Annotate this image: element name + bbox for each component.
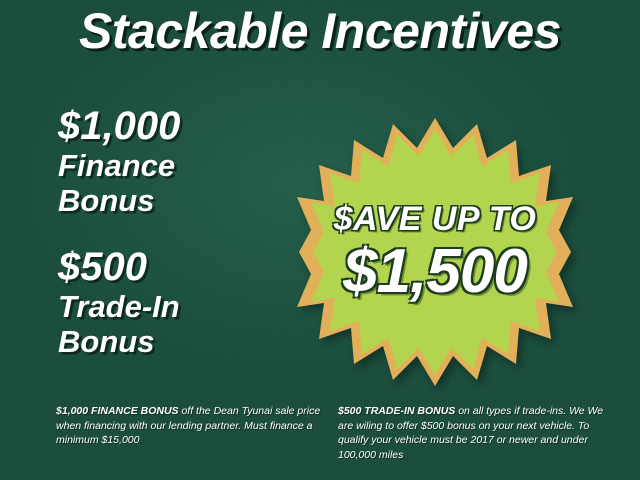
fine-print-trade-in: $500 TRADE-IN BONUS on all types if trad… (338, 404, 604, 462)
starburst-icon (297, 116, 573, 388)
offer-label-line1: Trade-In (58, 289, 308, 324)
fine-print-finance: $1,000 FINANCE BONUS off the Dean Tyunai… (56, 404, 322, 462)
offer-amount: $1,000 (58, 105, 308, 148)
offer-trade-in-bonus: $500 Trade-In Bonus (58, 246, 308, 359)
fine-print-lead: $1,000 FINANCE BONUS (56, 405, 179, 417)
offer-amount: $500 (58, 246, 308, 289)
fine-print-paragraph: $1,000 FINANCE BONUS off the Dean Tyunai… (56, 404, 322, 448)
offer-label-line1: Finance (58, 148, 308, 183)
savings-starburst-badge: $AVE UP TO $1,500 (297, 116, 573, 388)
fine-print-paragraph: $500 TRADE-IN BONUS on all types if trad… (338, 404, 604, 462)
offer-label-line2: Bonus (58, 324, 308, 359)
offer-finance-bonus: $1,000 Finance Bonus (58, 105, 308, 218)
starburst-inner-fill (311, 129, 559, 375)
page-title: Stackable Incentives (0, 2, 640, 60)
fine-print-lead: $500 TRADE-IN BONUS (338, 405, 455, 417)
fine-print: $1,000 FINANCE BONUS off the Dean Tyunai… (56, 404, 604, 462)
offer-label-line2: Bonus (58, 183, 308, 218)
offers-list: $1,000 Finance Bonus $500 Trade-In Bonus (58, 105, 308, 387)
promo-poster: Stackable Incentives $1,000 Finance Bonu… (0, 0, 640, 480)
